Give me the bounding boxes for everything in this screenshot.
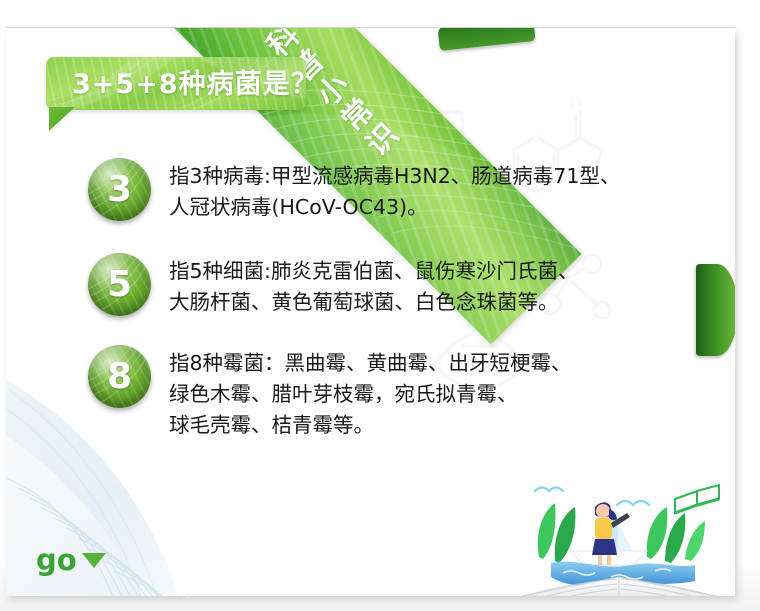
list-item-line: 指3种病毒:甲型流感病毒H3N2、肠道病毒71型、: [169, 161, 620, 192]
list-item-text: 指3种病毒:甲型流感病毒H3N2、肠道病毒71型、 人冠状病毒(HCoV-OC4…: [169, 158, 620, 223]
list-item-line: 人冠状病毒(HCoV-OC43)。: [169, 192, 620, 223]
list-item-text: 指8种霉菌：黑曲霉、黄曲霉、出牙短梗霉、 绿色木霉、腊叶芽枝霉，宛氏拟青霉、 球…: [169, 345, 572, 441]
list-item-line: 指5种细菌:肺炎克雷伯菌、鼠伤寒沙门氏菌、: [169, 256, 578, 287]
badge-label: 5: [107, 267, 132, 303]
badge-number-8: 8: [88, 345, 151, 408]
list-item: 3 指3种病毒:甲型流感病毒H3N2、肠道病毒71型、 人冠状病毒(HCoV-O…: [88, 158, 620, 223]
list-item: 5 指5种细菌:肺炎克雷伯菌、鼠伤寒沙门氏菌、 大肠杆菌、黄色葡萄球菌、白色念珠…: [88, 253, 578, 318]
badge-label: 8: [107, 359, 132, 395]
list-item-line: 绿色木霉、腊叶芽枝霉，宛氏拟青霉、: [169, 379, 572, 410]
list-item-line: 球毛壳霉、桔青霉等。: [169, 410, 572, 441]
badge-number-5: 5: [88, 253, 151, 316]
list-item-line: 大肠杆菌、黄色葡萄球菌、白色念珠菌等。: [169, 287, 578, 318]
list-item: 8 指8种霉菌：黑曲霉、黄曲霉、出牙短梗霉、 绿色木霉、腊叶芽枝霉，宛氏拟青霉、…: [88, 345, 572, 441]
poster-canvas: O Ph: [0, 0, 760, 611]
fact-list: 3 指3种病毒:甲型流感病毒H3N2、肠道病毒71型、 人冠状病毒(HCoV-O…: [0, 0, 760, 611]
list-item-line: 指8种霉菌：黑曲霉、黄曲霉、出牙短梗霉、: [169, 348, 572, 379]
badge-label: 3: [107, 172, 132, 208]
badge-number-3: 3: [88, 158, 151, 221]
list-item-text: 指5种细菌:肺炎克雷伯菌、鼠伤寒沙门氏菌、 大肠杆菌、黄色葡萄球菌、白色念珠菌等…: [169, 253, 578, 318]
